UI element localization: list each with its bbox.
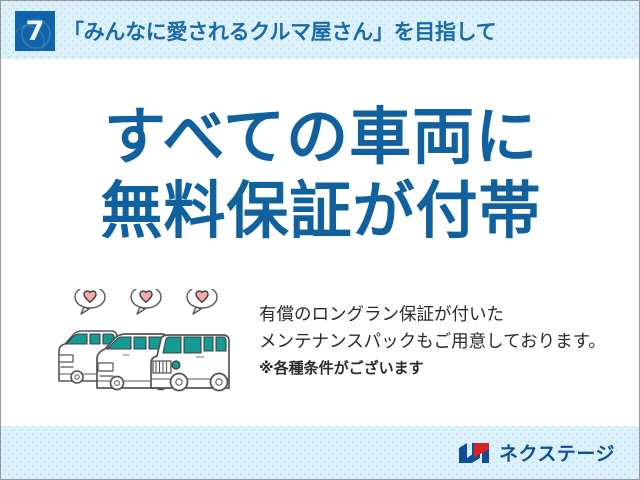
numbered-badge: 7 — [15, 11, 55, 51]
content-row: 有償のロングラン保証が付いた メンテナンスパックもご用意しております。 ※各種条… — [1, 289, 640, 407]
description-line-1: 有償のロングラン保証が付いた — [259, 301, 629, 328]
speech-bubble-heart-icon-1 — [75, 289, 105, 314]
promo-banner: 7 「みんなに愛されるクルマ屋さん」を目指して すべての車両に 無料保証が付帯 — [0, 0, 640, 480]
description-note: ※各種条件がございます — [259, 355, 629, 382]
header-title: 「みんなに愛されるクルマ屋さん」を目指して — [63, 13, 496, 49]
headline-line-2: 無料保証が付帯 — [1, 175, 640, 249]
car-suv-jeep — [151, 335, 229, 391]
three-cars-with-heart-bubbles — [53, 289, 253, 401]
page-title: すべての車両に 無料保証が付帯 — [1, 101, 640, 249]
speech-bubble-heart-icon-2 — [131, 289, 161, 314]
cars-illustration-svg — [53, 289, 253, 401]
brand-logo-text: ネクステージ — [499, 439, 615, 466]
description-text: 有償のロングラン保証が付いた メンテナンスパックもご用意しております。 ※各種条… — [259, 301, 629, 382]
description-line-2: メンテナンスパックもご用意しております。 — [259, 328, 629, 355]
badge-number: 7 — [15, 11, 55, 51]
brand-logo: ネクステージ — [458, 439, 615, 466]
nexstage-n-logo-icon — [458, 441, 492, 465]
footer-band: ネクステージ — [1, 426, 640, 480]
headline-line-1: すべての車両に — [1, 101, 640, 175]
speech-bubble-heart-icon-3 — [187, 289, 217, 314]
header-band: 7 「みんなに愛されるクルマ屋さん」を目指して — [1, 1, 640, 59]
